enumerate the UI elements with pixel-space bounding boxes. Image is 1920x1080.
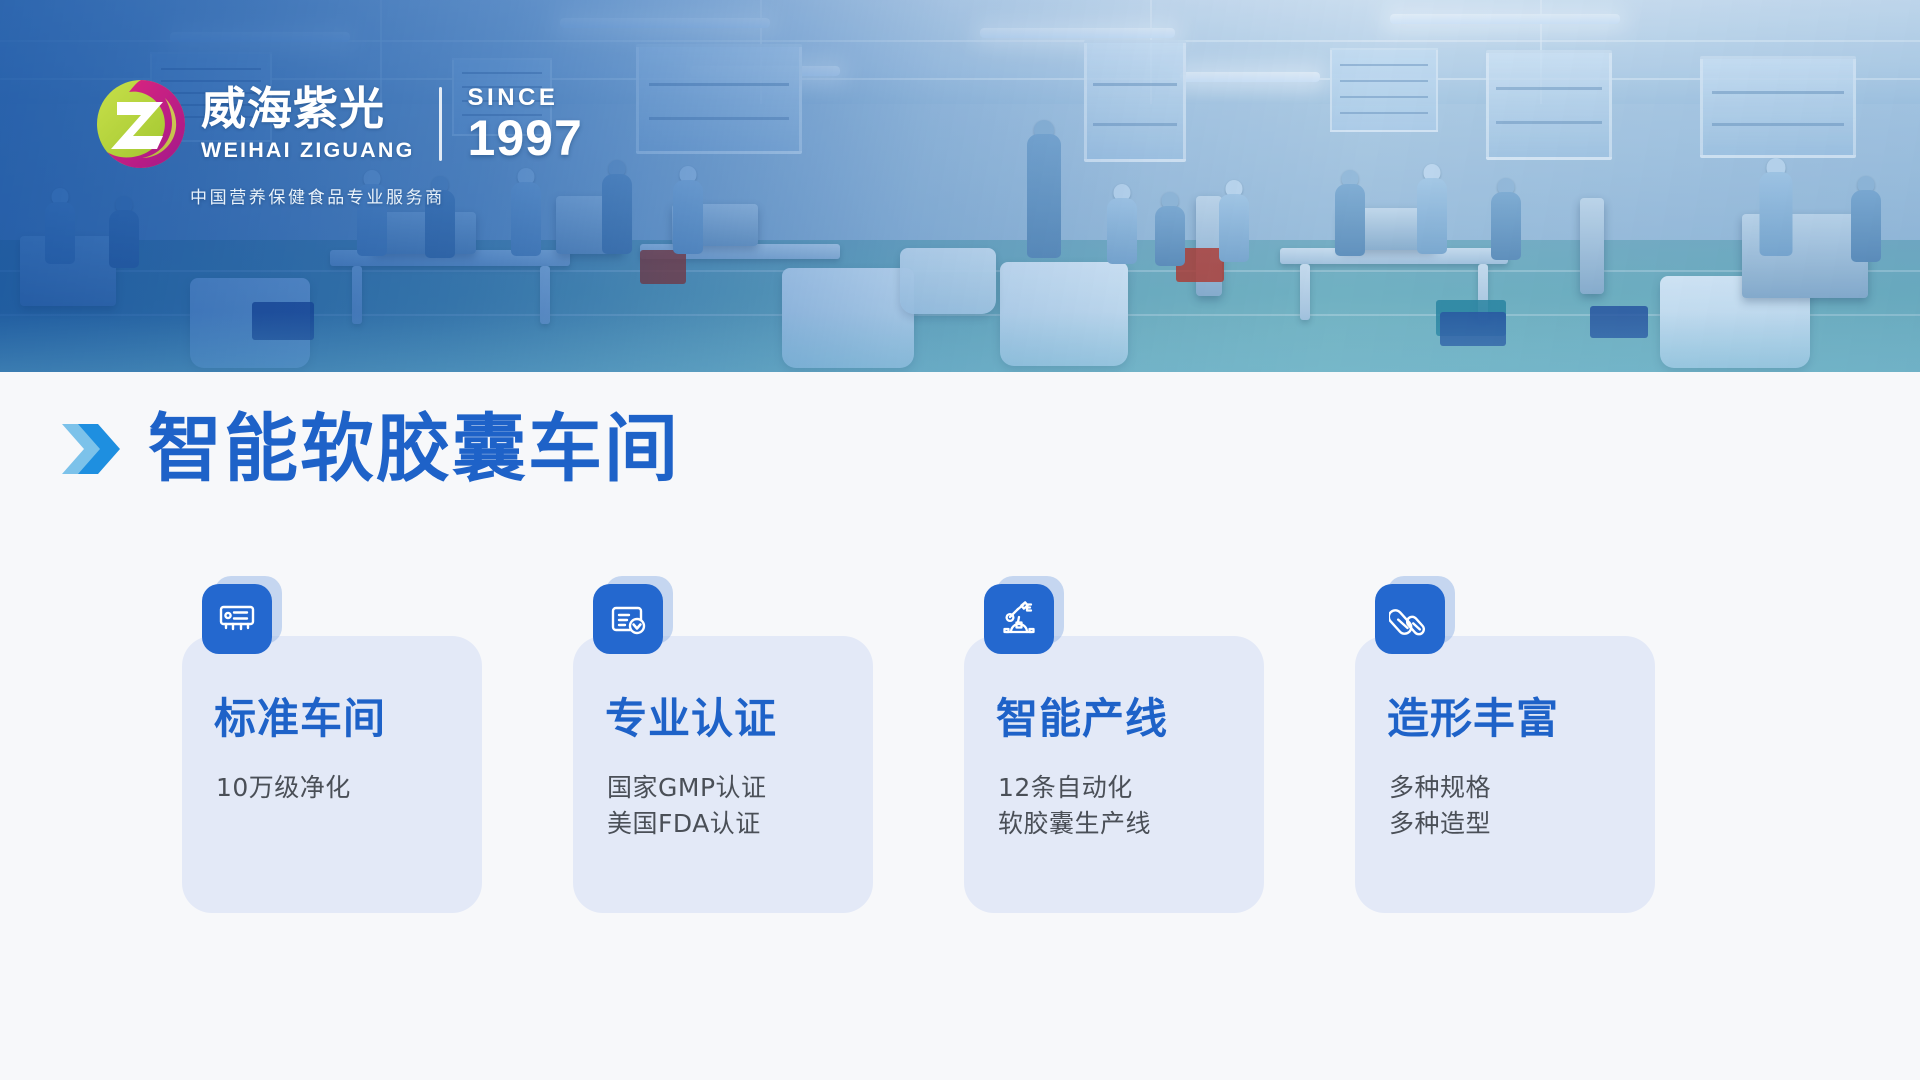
card-description: 多种规格 多种造型	[1389, 770, 1491, 841]
card-icon-wrap	[202, 584, 276, 658]
since-block: SINCE 1997	[468, 86, 583, 163]
feature-card[interactable]: 智能产线 12条自动化 软胶囊生产线	[964, 636, 1264, 913]
since-year: 1997	[468, 113, 583, 163]
feature-card-list: 标准车间 10万级净化 专业认证 国家GMP认证	[182, 636, 1655, 913]
card-title: 智能产线	[996, 698, 1168, 740]
card-line: 12条自动化	[998, 770, 1151, 806]
clean-room-ac-icon	[202, 584, 272, 654]
since-label: SINCE	[468, 86, 583, 110]
card-description: 国家GMP认证 美国FDA认证	[607, 770, 767, 841]
ziguang-z-logo	[95, 78, 187, 170]
card-description: 10万级净化	[216, 770, 351, 806]
card-title: 标准车间	[214, 698, 386, 740]
card-title: 专业认证	[605, 698, 777, 740]
card-title: 造形丰富	[1387, 698, 1559, 740]
hero-banner: 威海紫光 WEIHAI ZIGUANG SINCE 1997 中国营养保健食品专…	[0, 0, 1920, 372]
certificate-check-icon	[593, 584, 663, 654]
double-chevron-right-icon	[60, 420, 124, 478]
feature-card[interactable]: 标准车间 10万级净化	[182, 636, 482, 913]
card-line: 软胶囊生产线	[998, 806, 1151, 842]
card-line: 10万级净化	[216, 770, 351, 806]
page-root: 威海紫光 WEIHAI ZIGUANG SINCE 1997 中国营养保健食品专…	[0, 0, 1920, 1080]
brand-name-cn: 威海紫光	[201, 86, 415, 131]
feature-card[interactable]: 造形丰富 多种规格 多种造型	[1355, 636, 1655, 913]
card-icon-wrap	[984, 584, 1058, 658]
card-icon-wrap	[1375, 584, 1449, 658]
feature-card[interactable]: 专业认证 国家GMP认证 美国FDA认证	[573, 636, 873, 913]
brand-logo-block: 威海紫光 WEIHAI ZIGUANG SINCE 1997 中国营养保健食品专…	[95, 78, 583, 208]
page-title: 智能软胶囊车间	[148, 412, 680, 486]
card-line: 美国FDA认证	[607, 806, 767, 842]
brand-name-en: WEIHAI ZIGUANG	[201, 138, 415, 163]
robot-arm-icon	[984, 584, 1054, 654]
card-line: 多种规格	[1389, 770, 1491, 806]
section-title-row: 智能软胶囊车间	[60, 412, 680, 486]
brand-tagline: 中国营养保健食品专业服务商	[190, 183, 583, 208]
logo-divider	[439, 87, 442, 161]
capsule-pills-icon	[1375, 584, 1445, 654]
card-description: 12条自动化 软胶囊生产线	[998, 770, 1151, 841]
card-line: 国家GMP认证	[607, 770, 767, 806]
card-icon-wrap	[593, 584, 667, 658]
photo-bottom-fade	[0, 312, 1920, 372]
card-line: 多种造型	[1389, 806, 1491, 842]
